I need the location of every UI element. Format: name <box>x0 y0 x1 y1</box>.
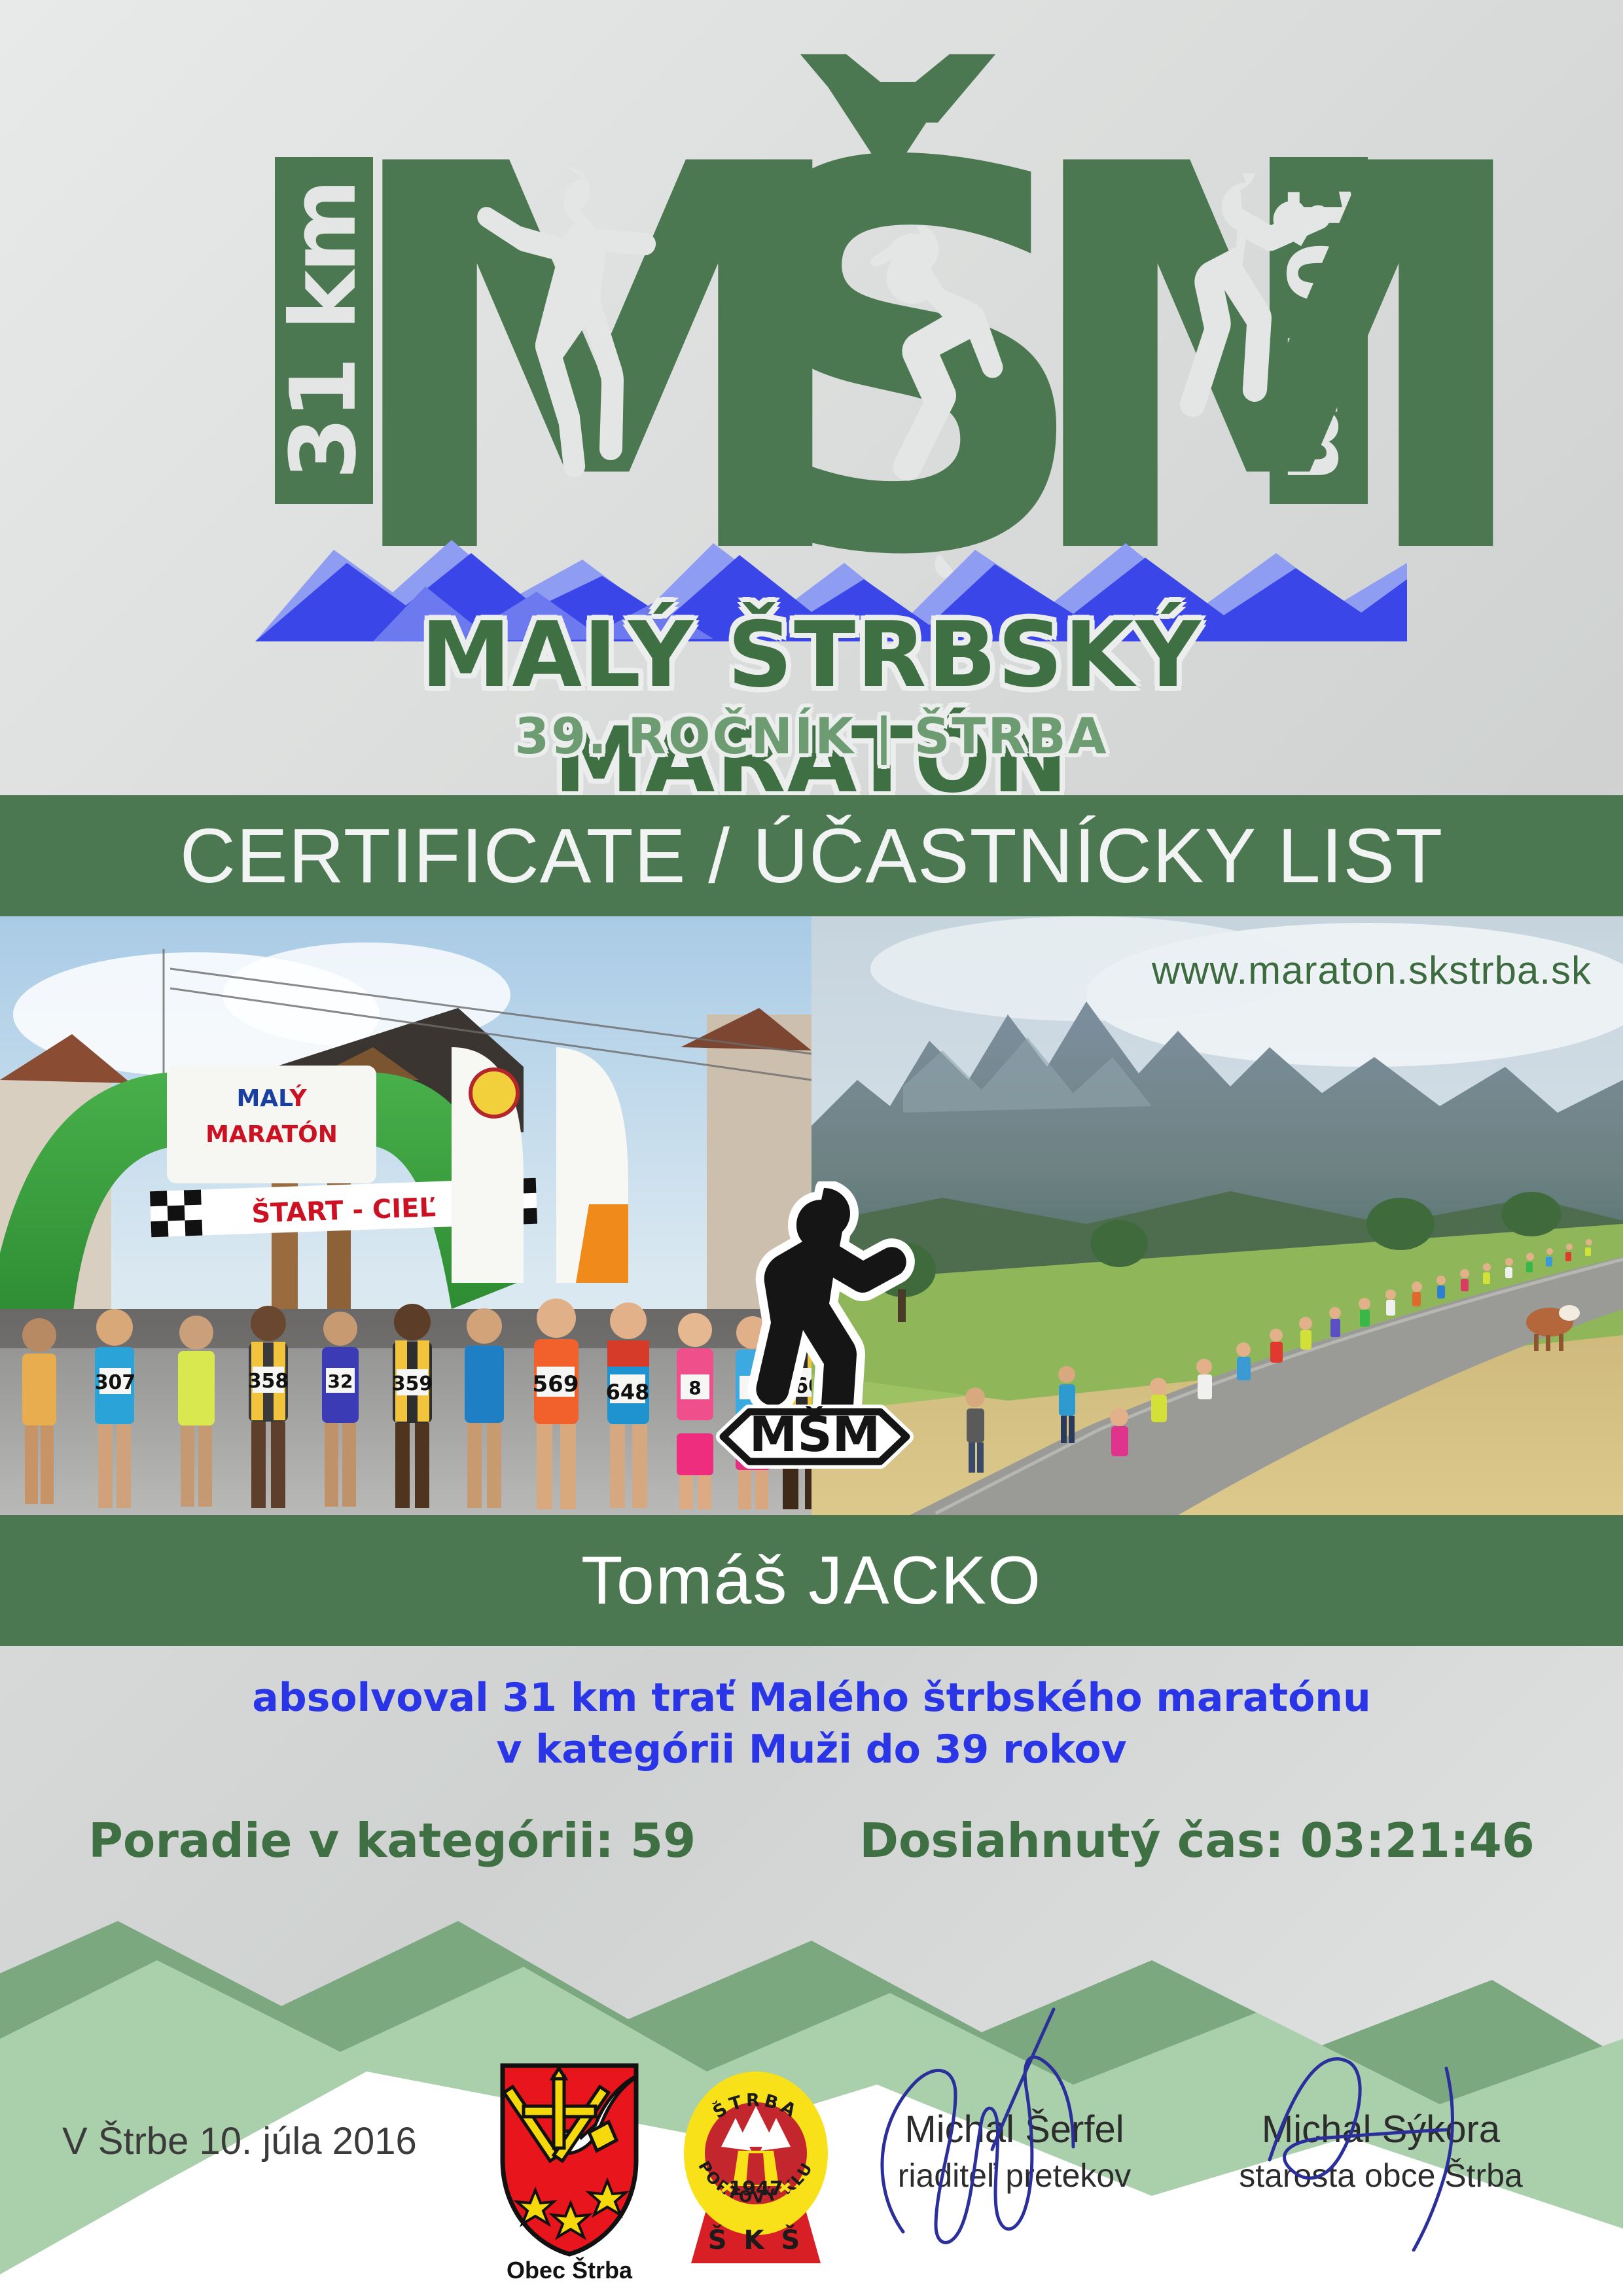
signature-block-mayor: Michal Sýkora starosta obce Štrba <box>1211 2108 1551 2195</box>
sks-club-logo-icon: ŠTRBA ŠPORTOVÝ KLUB <box>681 2055 831 2271</box>
svg-text:569: 569 <box>533 1371 579 1397</box>
svg-text:359: 359 <box>392 1372 433 1395</box>
signature-block-director: Michal Šerfel riaditeľ pretekov <box>844 2108 1185 2195</box>
sks-year: 1947 <box>728 2178 783 2200</box>
finish-time: Dosiahnutý čas: 03:21:46 <box>859 1813 1535 1868</box>
photo-tatra-road: www.maraton.skstrba.sk <box>811 916 1623 1515</box>
signature-role-director: riaditeľ pretekov <box>844 2157 1185 2195</box>
achievement-line-1: absolvoval 31 km trať Malého štrbského m… <box>252 1675 1371 1721</box>
participant-name-band: Tomáš JACKO <box>0 1515 1623 1646</box>
result-area: absolvoval 31 km trať Malého štrbského m… <box>0 1646 1623 1921</box>
crest-label: Obec Štrba <box>497 2257 641 2284</box>
signature-name-director: Michal Šerfel <box>844 2108 1185 2151</box>
photo-race-start: MALÝ MARATÓN ŠTART - CIEĽ <box>0 916 811 1515</box>
msm-logo: 31 km 10 km M Š M <box>170 26 1453 795</box>
category-rank: Poradie v kategórii: 59 <box>88 1813 696 1868</box>
svg-text:32: 32 <box>328 1371 353 1392</box>
svg-text:307: 307 <box>95 1371 136 1394</box>
runner-silhouette-celebrating-icon <box>1126 173 1387 553</box>
svg-text:648: 648 <box>606 1380 650 1405</box>
svg-text:358: 358 <box>248 1370 289 1393</box>
issue-date: V Štrbe 10. júla 2016 <box>62 2119 417 2163</box>
achievement-description: absolvoval 31 km trať Malého štrbského m… <box>0 1672 1623 1776</box>
msm-runner-badge-icon: MŠM <box>710 1181 919 1469</box>
footer: V Štrbe 10. júla 2016 <box>0 2049 1623 2296</box>
svg-text:MALÝ: MALÝ <box>236 1084 307 1112</box>
result-stats: Poradie v kategórii: 59 Dosiahnutý čas: … <box>0 1813 1623 1868</box>
participant-name: Tomáš JACKO <box>581 1542 1042 1620</box>
msm-badge-text: MŠM <box>749 1405 881 1463</box>
sks-abbr: Š K Š <box>708 2224 804 2255</box>
website-url: www.maraton.skstrba.sk <box>1152 948 1592 993</box>
signature-name-mayor: Michal Sýkora <box>1211 2108 1551 2151</box>
achievement-line-2: v kategórii Muži do 39 rokov <box>0 1724 1623 1776</box>
svg-text:MARATÓN: MARATÓN <box>205 1121 338 1148</box>
logo-subtitle: 39. ROČNÍK | ŠTRBA <box>170 707 1453 765</box>
certificate-heading-band: CERTIFICATE / ÚČASTNÍCKY LIST <box>0 795 1623 916</box>
msm-letterforms: 31 km 10 km M Š M <box>170 59 1453 583</box>
runner-silhouette-male-arms-out-icon <box>452 167 733 533</box>
signature-role-mayor: starosta obce Štrba <box>1211 2157 1551 2195</box>
caron-accent-icon <box>825 82 953 180</box>
svg-text:8: 8 <box>688 1377 701 1399</box>
obec-strba-coat-of-arms-icon <box>497 2062 641 2258</box>
certificate-page: 31 km 10 km M Š M <box>0 0 1623 2296</box>
header-logo-area: 31 km 10 km M Š M <box>0 0 1623 795</box>
certificate-heading: CERTIFICATE / ÚČASTNÍCKY LIST <box>180 812 1443 901</box>
logo-title: MALÝ ŠTRBSKÝ MARATÓN <box>170 602 1453 795</box>
